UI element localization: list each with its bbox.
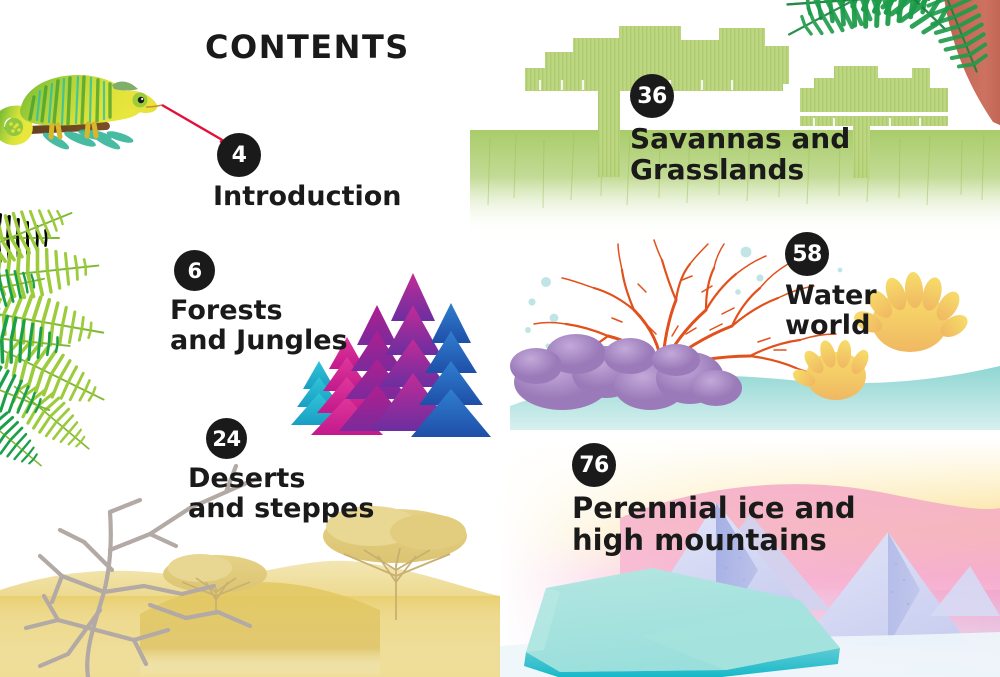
entry-perennial-ice-and-high-mountains[interactable]: 76 Perennial ice and high mountains (572, 443, 856, 557)
page-title: CONTENTS (205, 28, 410, 66)
page-badge-76: 76 (572, 443, 616, 487)
entry-label-deserts-and-steppes: Deserts and steppes (188, 464, 375, 524)
entry-deserts-and-steppes[interactable]: 24 Deserts and steppes (188, 418, 375, 524)
chameleon-illustration (0, 55, 224, 160)
page-badge-4: 4 (217, 133, 261, 177)
entry-label-forests-and-jungles: Forests and Jungles (170, 296, 348, 356)
entry-label-introduction: Introduction (213, 182, 402, 212)
contents-page: 36 Savannas and Grasslands (0, 0, 1000, 677)
coral-reef-illustration (510, 230, 1000, 430)
entry-label-savannas-and-grasslands: Savannas and Grasslands (630, 123, 850, 186)
entry-forests-and-jungles[interactable]: 6 Forests and Jungles (170, 250, 348, 356)
page-badge-58: 58 (785, 232, 829, 276)
entry-label-perennial-ice-and-high-mountains: Perennial ice and high mountains (572, 492, 856, 557)
brain-coral (510, 334, 742, 410)
page-badge-24: 24 (206, 418, 247, 459)
entry-introduction[interactable]: 4 Introduction (213, 133, 402, 212)
page-badge-6: 6 (174, 250, 215, 291)
entry-label-water-world: Water world (785, 281, 877, 341)
entry-water-world[interactable]: 58 Water world (785, 232, 877, 341)
page-badge-36: 36 (630, 74, 674, 118)
entry-savannas-and-grasslands[interactable]: 36 Savannas and Grasslands (630, 74, 850, 186)
